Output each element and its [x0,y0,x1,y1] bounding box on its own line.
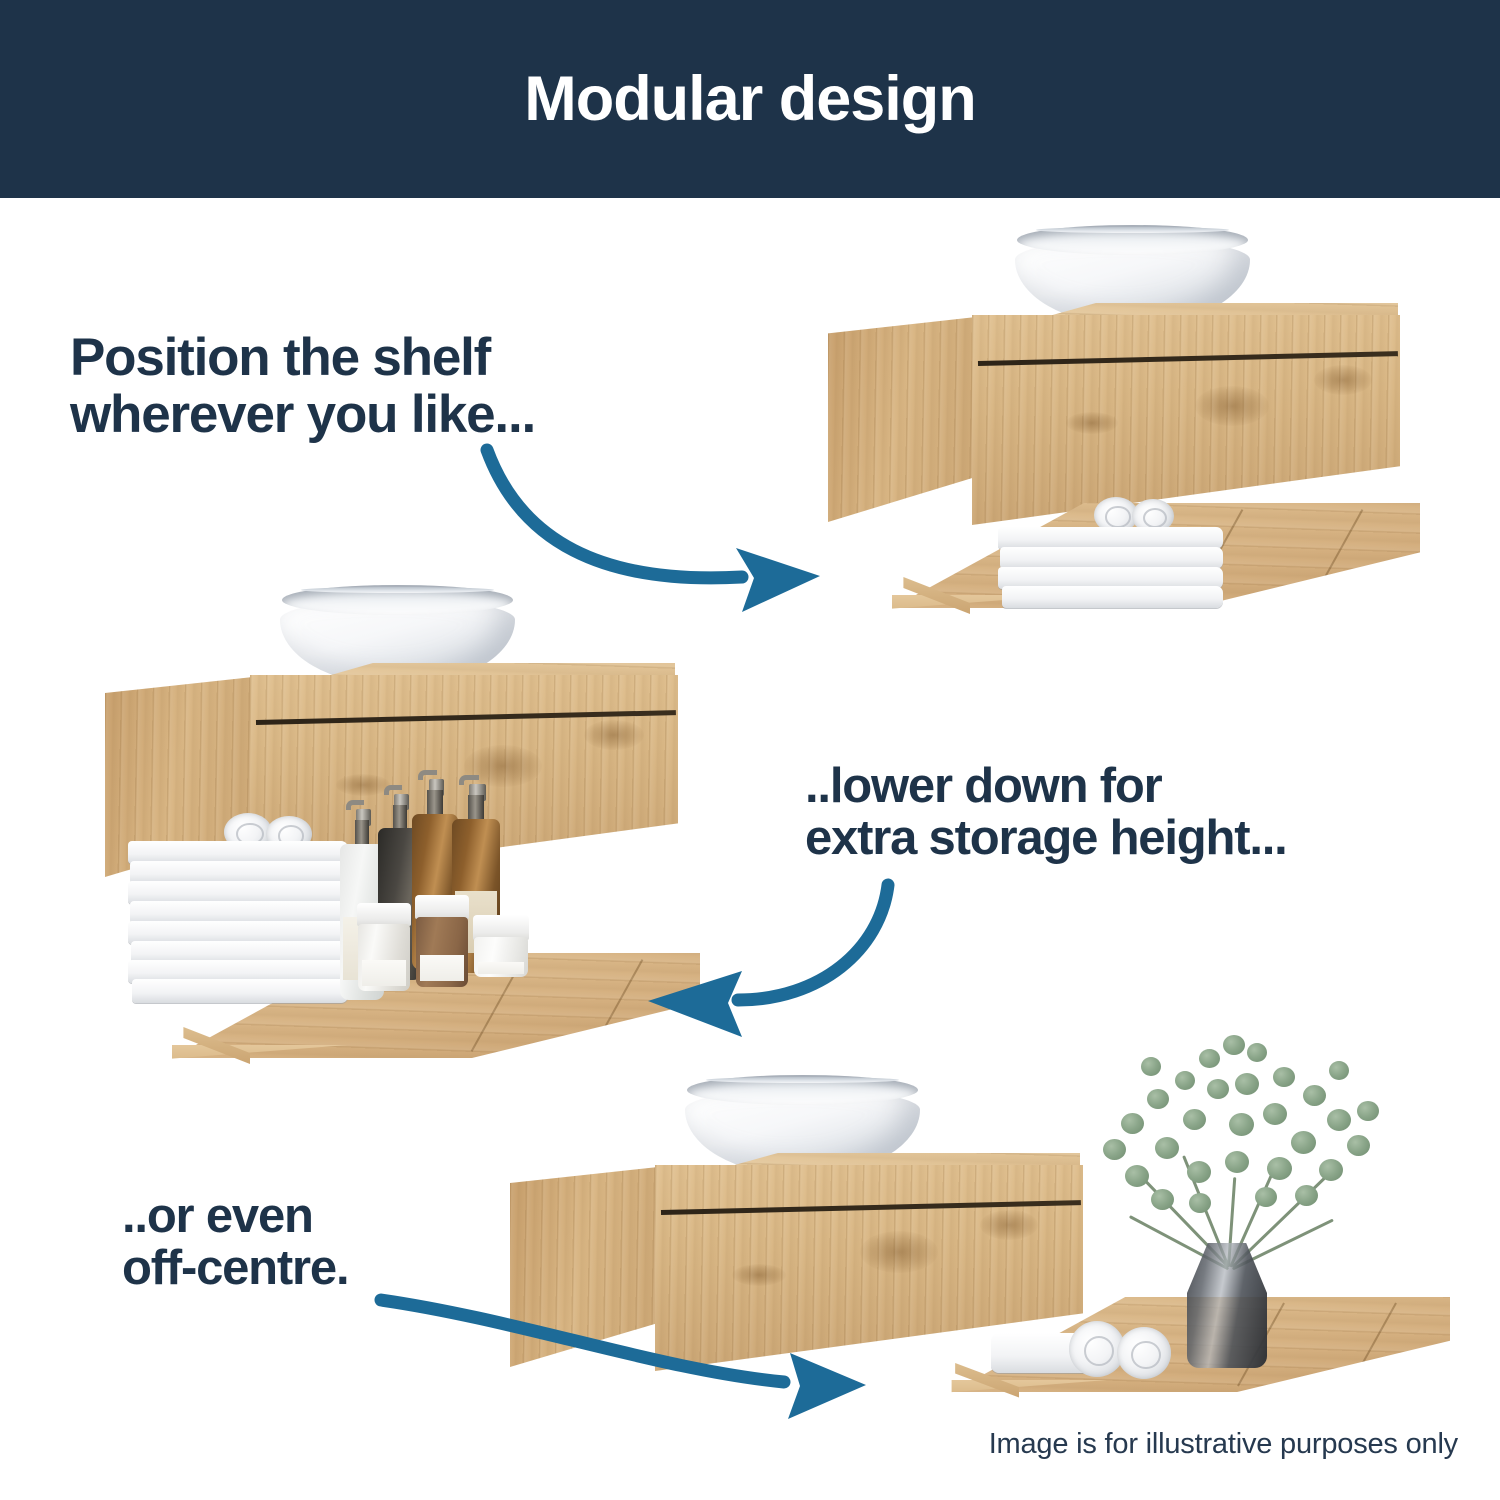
towel-fold [998,527,1223,549]
jar-label [478,962,523,974]
header-banner: Modular design [0,0,1500,198]
jar-label [362,960,406,985]
basin-rim-inner [706,1077,899,1083]
scene-shelf-low [100,585,700,1095]
basin-rim [687,1075,917,1105]
jar-body [416,917,468,987]
disclaimer-text: Image is for illustrative purposes only [989,1428,1458,1461]
jar-body [474,937,528,977]
cabinet-drawer-front [972,315,1400,525]
jar-lid [473,915,529,940]
basin-rim [1017,225,1247,255]
eucalyptus-stems [1077,1027,1407,1272]
storage-jar [416,895,468,987]
towel-fold [132,979,348,1003]
vase-body [1187,1243,1267,1368]
callout-text-off-centre: ..or even off-centre. [122,1190,348,1295]
rolled-towels [991,1315,1191,1385]
storage-jar [358,903,410,991]
callout-text-lower-down: ..lower down for extra storage height... [805,760,1287,865]
towel-fold [1000,547,1223,569]
storage-jar [474,915,528,977]
scene-shelf-offcentre [505,1075,1455,1405]
jar-body [358,924,410,991]
towel-stack [128,813,348,1003]
page-title: Modular design [524,63,976,135]
basin-rim [282,585,512,615]
basin-rim-inner [301,587,494,593]
scene-shelf-high [820,225,1420,655]
jar-lid [357,903,411,926]
basin-rim-inner [1036,227,1229,233]
cabinet-side-panel [828,317,976,522]
towel-fold [1002,586,1223,608]
callout-text-position-shelf: Position the shelf wherever you like... [70,330,535,443]
rolled-towel [1117,1327,1171,1379]
glass-vase [1187,1243,1267,1368]
jar-label [420,955,464,982]
cabinet-side-panel [510,1167,658,1367]
jar-lid [415,895,469,919]
folded-towels [998,497,1223,607]
